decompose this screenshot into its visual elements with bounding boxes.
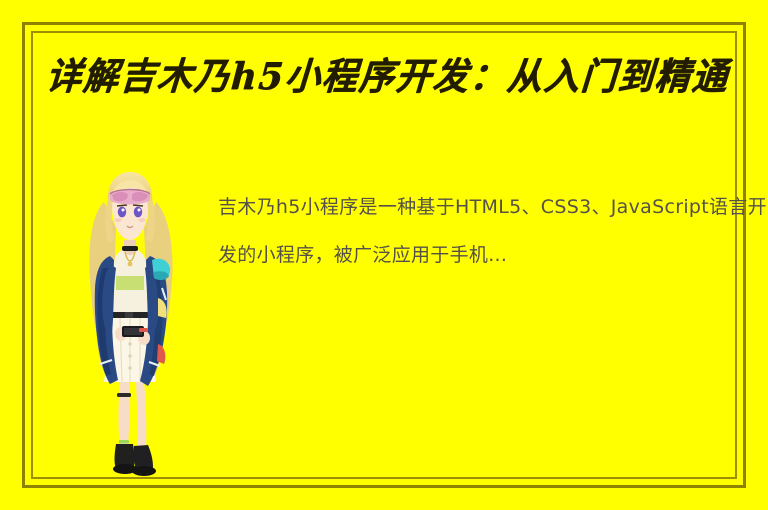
anime-girl-illustration [70,168,190,480]
page-title: 详解吉木乃h5小程序开发：从入门到精通 [44,52,768,103]
article-card: 详解吉木乃h5小程序开发：从入门到精通 吉木乃h5小程序是一种基于HTML5、C… [0,0,768,510]
article-summary-text: 吉木乃h5小程序是一种基于HTML5、CSS3、JavaScript语言开发的小… [218,183,768,279]
